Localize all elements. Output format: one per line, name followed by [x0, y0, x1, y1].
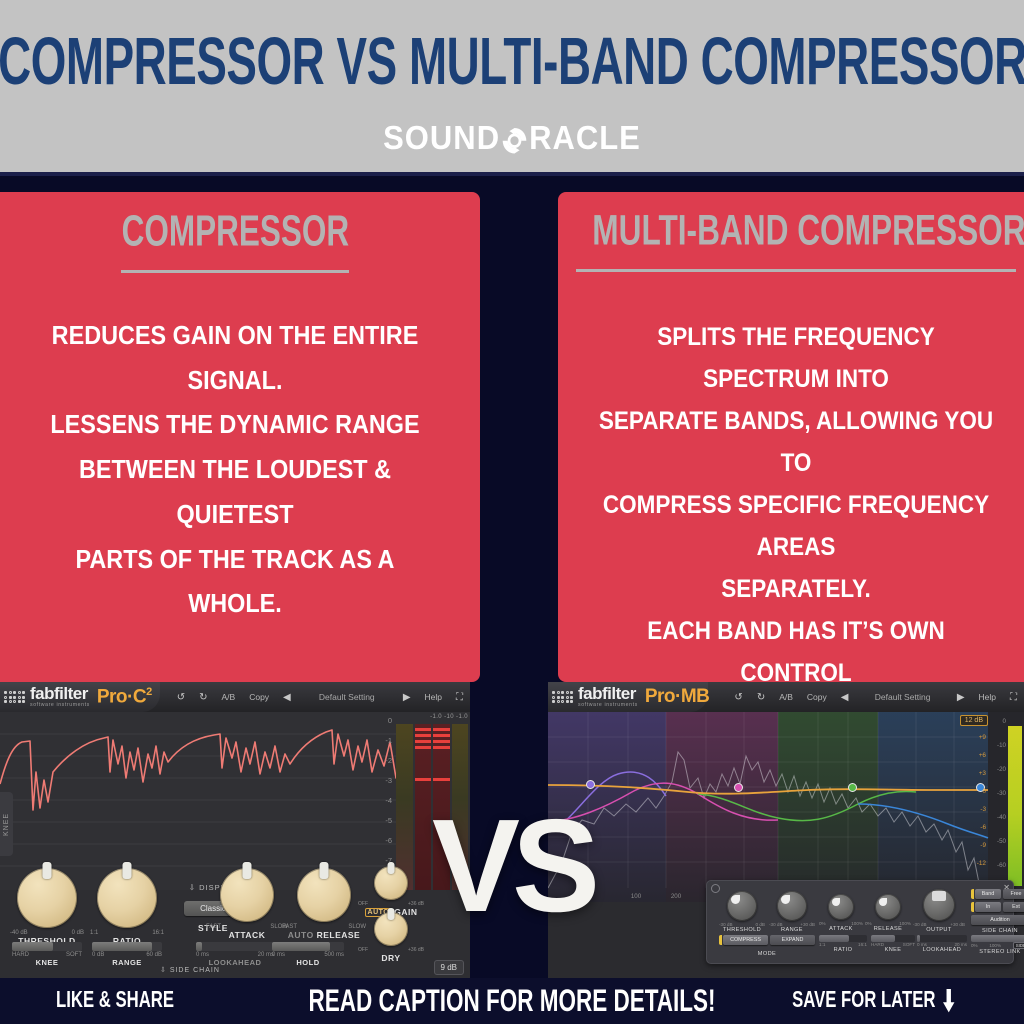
sidechain-free-button[interactable]: Free [1003, 889, 1024, 899]
card-compressor-title: COMPRESSOR [121, 207, 349, 260]
proc-ratio-control[interactable]: 1:116:1 RATIO [90, 868, 164, 946]
preset-name[interactable]: Default Setting [298, 692, 396, 702]
product-name: Pro·C2 [97, 686, 152, 708]
fabfilter-logo-icon [4, 691, 25, 703]
header-banner: COMPRESSOR VS MULTI-BAND COMPRESSOR SOUN… [0, 0, 1024, 172]
threshold-knob[interactable] [17, 868, 77, 928]
release-label: RELEASE [865, 926, 911, 932]
side-chain-button[interactable]: ⇩ SIDE CHAIN [160, 966, 220, 974]
proc-knee-tab[interactable]: KNEE [0, 792, 13, 856]
fabfilter-pro-c2-screenshot: fabfilter software instruments Pro·C2 ↺ … [0, 682, 470, 978]
release-knob[interactable] [875, 894, 901, 920]
knee-label: KNEE [871, 947, 915, 953]
card-line: BETWEEN THE LOUDEST & QUIETEST [31, 447, 440, 536]
proc-brand: fabfilter software instruments Pro·C2 [0, 682, 152, 712]
dry-label: DRY [358, 953, 424, 963]
hold-label: HOLD [272, 958, 344, 967]
card-compressor: COMPRESSOR REDUCES GAIN ON THE ENTIRE SI… [0, 192, 480, 682]
proc-toolbar: fabfilter software instruments Pro·C2 ↺ … [0, 682, 470, 712]
proc-lookahead-slider[interactable]: 0 ms20 ms LOOKAHEAD [196, 942, 274, 967]
lookahead-slider-track[interactable] [196, 942, 274, 951]
ratio-slider-track[interactable] [819, 935, 867, 942]
attack-knob[interactable] [828, 894, 854, 920]
mode-label: MODE [719, 951, 815, 957]
fabfilter-logo-icon [552, 691, 573, 703]
band-node-3[interactable] [848, 783, 857, 792]
product-name: Pro·MB [645, 686, 710, 708]
recycle-circle-icon [501, 126, 528, 155]
footer-bar: LIKE & SHARE READ CAPTION FOR MORE DETAI… [0, 978, 1024, 1024]
ratio-knob[interactable] [97, 868, 157, 928]
promb-menu: ↺ ↻ A/B Copy ◀ Default Setting ▶ Help ⛶ [709, 682, 1024, 712]
proc-readout: 9 dB [434, 960, 464, 975]
mode-expand-button[interactable]: EXPAND [770, 935, 815, 945]
mb-threshold-control[interactable]: -30 dB0 dB THRESHOLD [719, 891, 765, 933]
footer-like-share: LIKE & SHARE [56, 988, 174, 1014]
range-slider-track[interactable] [92, 942, 162, 951]
threshold-knob[interactable] [727, 891, 757, 921]
ab-button[interactable]: A/B [772, 692, 800, 702]
stereolink-slider-track[interactable] [971, 935, 1024, 942]
range-label: RANGE [769, 927, 815, 933]
title-underline [121, 270, 349, 273]
promb-toolbar: fabfilter software instruments Pro·MB ↺ … [548, 682, 1024, 712]
card-line: SPLITS THE FREQUENCY SPECTRUM INTO [598, 316, 994, 400]
prev-arrow-icon[interactable]: ◀ [276, 692, 298, 703]
arrow-down-icon [943, 989, 955, 1013]
stereolink-side-tag[interactable]: SIDE [1013, 942, 1024, 949]
mb-range-control[interactable]: -30 dB+30 dB RANGE [769, 891, 815, 933]
threshold-label: THRESHOLD [719, 927, 765, 933]
redo-icon[interactable]: ↻ [192, 692, 214, 703]
promb-range-badge[interactable]: 12 dB [960, 715, 988, 726]
lookahead-label: LOOKAHEAD [917, 947, 967, 953]
card-line: LESSENS THE DYNAMIC RANGE [31, 402, 440, 447]
card-multiband-title: MULTI-BAND COMPRESSOR [592, 207, 1024, 258]
ab-button[interactable]: A/B [215, 692, 243, 702]
card-line: SEPARATE BANDS, ALLOWING YOU TO [598, 400, 994, 484]
mb-output-control[interactable]: -30 dB+30 dB OUTPUT [913, 889, 965, 933]
title-underline [576, 269, 1016, 272]
brand-name: fabfilter [30, 685, 90, 702]
vs-label: VS [432, 800, 592, 932]
promb-curves [548, 712, 1024, 902]
attack-label: ATTACK [819, 926, 863, 932]
soundoracle-logo: SOUND RACLE [383, 119, 641, 158]
stereolink-range: 0% 100% SIDE [971, 942, 1024, 949]
help-button[interactable]: Help [418, 692, 449, 702]
next-arrow-icon[interactable]: ▶ [950, 692, 972, 703]
proc-range-slider[interactable]: 0 dB60 dB RANGE [92, 942, 162, 967]
knee-label: KNEE [12, 958, 82, 967]
dry-knob[interactable] [374, 912, 408, 946]
prev-arrow-icon[interactable]: ◀ [834, 692, 856, 703]
band-node-2[interactable] [734, 783, 743, 792]
mb-stereolink-control[interactable]: 0% 100% SIDE STEREO LINK [971, 935, 1024, 955]
copy-button[interactable]: Copy [242, 692, 276, 702]
logo-text-post: RACLE [529, 119, 641, 158]
proc-controls: -40 dB0 dB THRESHOLD 1:116:1 RATIO ⇩ DIS… [0, 890, 470, 978]
expand-icon[interactable]: ⛶ [1003, 692, 1024, 703]
proc-dry-control[interactable]: OFF+36 dB DRY [358, 912, 424, 963]
mb-lookahead-control[interactable]: 0 ms20 ms LOOKAHEAD [917, 935, 967, 953]
card-multiband-compressor: MULTI-BAND COMPRESSOR SPLITS THE FREQUEN… [558, 192, 1024, 682]
output-label: OUTPUT [913, 927, 965, 933]
copy-button[interactable]: Copy [800, 692, 834, 702]
card-line: PARTS OF THE TRACK AS A WHOLE. [31, 537, 440, 626]
band-node-1[interactable] [586, 780, 595, 789]
range-knob[interactable] [777, 891, 807, 921]
help-button[interactable]: Help [972, 692, 1003, 702]
autogain-knob[interactable] [374, 866, 408, 900]
sidechain-band-button[interactable]: Band [975, 889, 1001, 899]
mode-compress-button[interactable]: COMPRESS [723, 935, 768, 945]
mb-attack-control[interactable]: 0%100% ATTACK [819, 894, 863, 932]
expand-icon[interactable]: ⛶ [449, 692, 470, 703]
sidechain-ext-button[interactable]: Ext [1003, 902, 1024, 912]
release-knob[interactable] [297, 868, 351, 922]
sidechain-label: SIDE CHAIN [971, 928, 1024, 934]
logo-text-pre: SOUND [383, 119, 500, 158]
proc-attack-control[interactable]: FASTSLOW ATTACK [206, 868, 288, 940]
brand-subtitle: software instruments [578, 703, 638, 708]
promb-output-meter [1008, 726, 1022, 886]
comparison-cards: COMPRESSOR REDUCES GAIN ON THE ENTIRE SI… [0, 172, 1024, 682]
proc-gain-reduction-display[interactable]: KNEE 0 -1 -2 -3 -4 -5 -6 -7 -8 -1.0 -10 … [0, 712, 470, 890]
promb-band-display[interactable]: 12 dB +9 +6 +3 0 -3 -6 -9 -12 0 -10 -20 … [548, 712, 1024, 902]
card-line: SEPARATELY. [598, 568, 994, 610]
knee-slider-track[interactable] [12, 942, 82, 951]
redo-icon[interactable]: ↻ [750, 692, 772, 703]
card-compressor-body: REDUCES GAIN ON THE ENTIRE SIGNAL. LESSE… [31, 313, 440, 626]
footer-save-label: SAVE FOR LATER [792, 988, 935, 1014]
output-knob[interactable] [923, 889, 955, 921]
release-label: AUTO RELEASE [282, 930, 366, 940]
infographic-page: COMPRESSOR VS MULTI-BAND COMPRESSOR SOUN… [0, 0, 1024, 1024]
proc-threshold-control[interactable]: -40 dB0 dB THRESHOLD [10, 868, 84, 946]
undo-icon[interactable]: ↺ [727, 692, 749, 703]
card-line: COMPRESS SPECIFIC FREQUENCY AREAS [598, 484, 994, 568]
card-line: REDUCES GAIN ON THE ENTIRE SIGNAL. [31, 313, 440, 402]
mb-mode-control[interactable]: COMPRESS EXPAND MODE [719, 935, 815, 957]
promb-brand: fabfilter software instruments Pro·MB [548, 682, 709, 712]
brand-subtitle: software instruments [30, 703, 90, 708]
mb-ratio-control[interactable]: 1:116:1 RATIO [819, 935, 867, 953]
attack-label: ATTACK [206, 930, 288, 940]
footer-read-caption: READ CAPTION FOR MORE DETAILS! [308, 983, 715, 1019]
ratio-label: RATIO [819, 947, 867, 953]
proc-knee-slider[interactable]: HARDSOFT KNEE [12, 942, 82, 967]
preset-name[interactable]: Default Setting [855, 692, 949, 702]
proc-meter-labels: -1.0 -10 -1.0 [430, 714, 468, 720]
sidechain-in-button[interactable]: In [975, 902, 1001, 912]
fabfilter-pro-mb-screenshot: fabfilter software instruments Pro·MB ↺ … [548, 682, 1024, 978]
promb-band-panel: ✕ -30 dB0 dB THRESHOLD -30 dB+30 dB RANG… [706, 880, 1014, 964]
mb-release-control[interactable]: 0%100% RELEASE [865, 894, 911, 932]
proc-menu: ↺ ↻ A/B Copy ◀ Default Setting ▶ Help ⛶ [152, 682, 470, 712]
range-label: RANGE [92, 958, 162, 967]
proc-release-control[interactable]: FASTSLOW AUTO RELEASE [282, 868, 366, 940]
proc-hold-slider[interactable]: 0 ms500 ms HOLD [272, 942, 344, 967]
lookahead-slider-track[interactable] [917, 935, 967, 942]
mb-knee-control[interactable]: HARDSOFT KNEE [871, 935, 915, 953]
footer-save-for-later: SAVE FOR LATER [792, 988, 955, 1014]
brand-name: fabfilter [578, 685, 638, 702]
undo-icon[interactable]: ↺ [170, 692, 192, 703]
page-title: COMPRESSOR VS MULTI-BAND COMPRESSOR [0, 24, 1024, 101]
sidechain-audition-button[interactable]: Audition [971, 915, 1024, 925]
knee-slider-track[interactable] [871, 935, 915, 942]
hold-slider-track[interactable] [272, 942, 344, 951]
mb-sidechain-control[interactable]: Band Free In Ext Audition SIDE CHAIN [971, 889, 1024, 934]
stereolink-label: STEREO LINK [971, 949, 1024, 955]
next-arrow-icon[interactable]: ▶ [396, 692, 418, 703]
attack-knob[interactable] [220, 868, 274, 922]
